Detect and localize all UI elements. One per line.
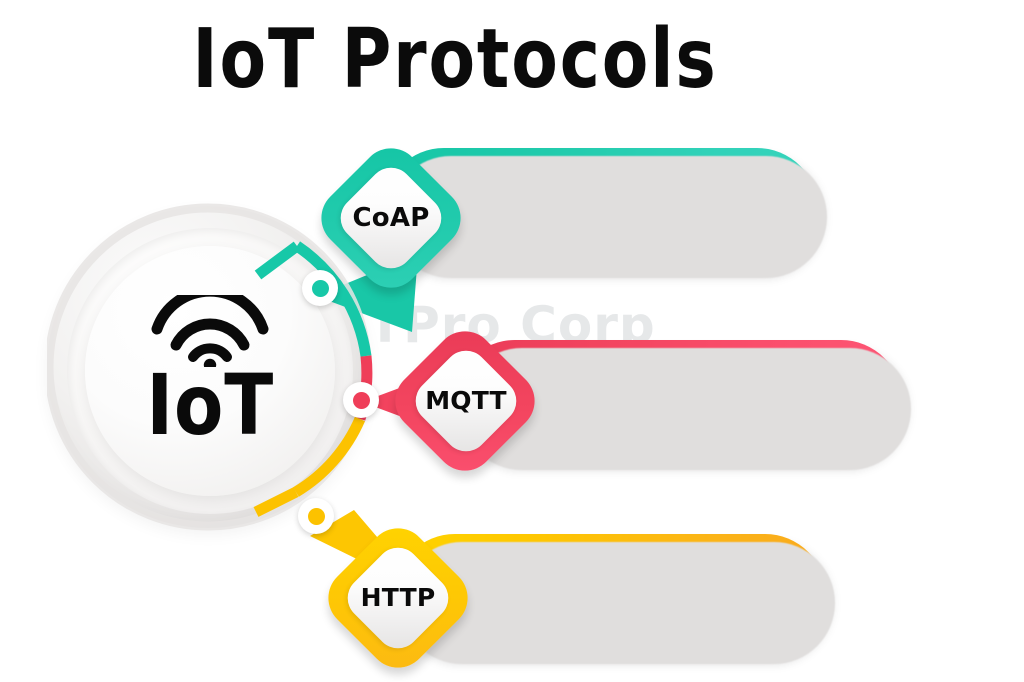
- http-badge[interactable]: HTTP: [339, 539, 458, 658]
- mqtt-abbr: MQTT: [424, 359, 508, 443]
- connector-dot-mqtt: [343, 382, 379, 418]
- http-abbr: HTTP: [356, 556, 440, 640]
- hub-logo: IoT: [85, 246, 335, 496]
- page-title: IoT Protocols: [36, 14, 873, 106]
- coap-abbr: CoAP: [349, 176, 433, 260]
- infographic-canvas: IoT Protocols TPro Corp IoT: [0, 0, 1024, 675]
- hub-label: IoT: [146, 363, 274, 447]
- mqtt-badge[interactable]: MQTT: [407, 342, 526, 461]
- connector-dot-coap: [302, 270, 338, 306]
- coap-badge[interactable]: CoAP: [332, 159, 451, 278]
- connector-dot-http: [298, 498, 334, 534]
